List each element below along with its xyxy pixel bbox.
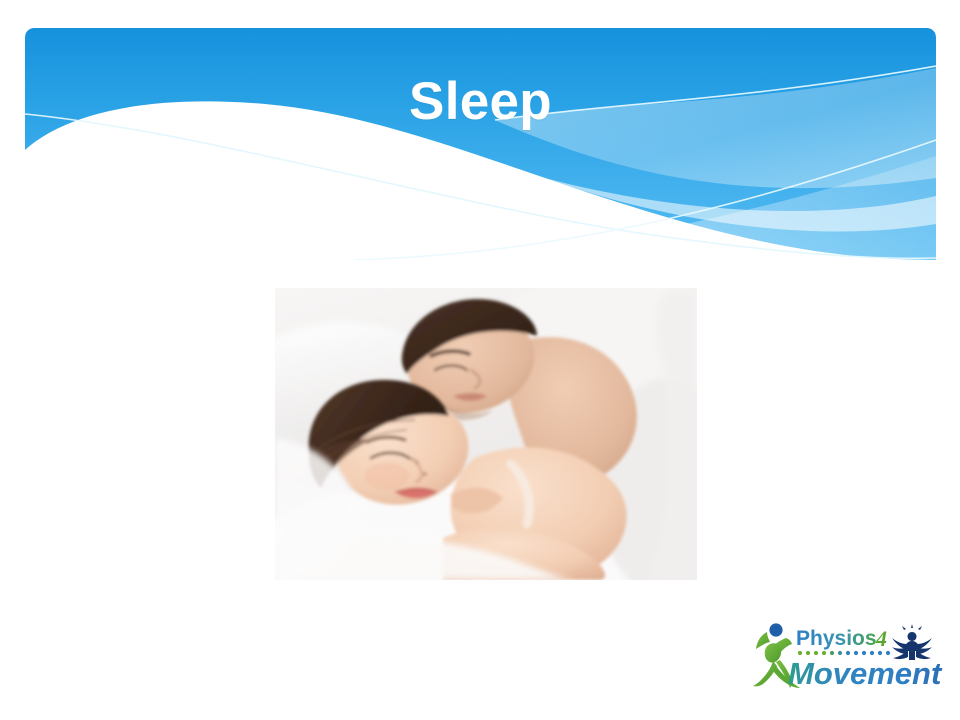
physios-4-movement-logo: Physios 4	[748, 616, 954, 694]
banner-wave-graphic	[25, 28, 936, 260]
presentation-slide: Sleep	[0, 0, 960, 720]
logo-word-movement: Movement	[788, 656, 943, 691]
page-title: Sleep	[25, 70, 936, 134]
starburst-person-icon	[892, 624, 932, 660]
logo-dotted-line	[798, 651, 890, 655]
sleeping-couple-photo	[275, 288, 697, 580]
logo-word-four: 4	[875, 626, 887, 651]
header-banner	[25, 28, 936, 260]
photo-illustration	[275, 288, 697, 580]
logo-word-physios: Physios	[796, 627, 877, 650]
logo-graphic: Physios 4	[748, 616, 954, 694]
